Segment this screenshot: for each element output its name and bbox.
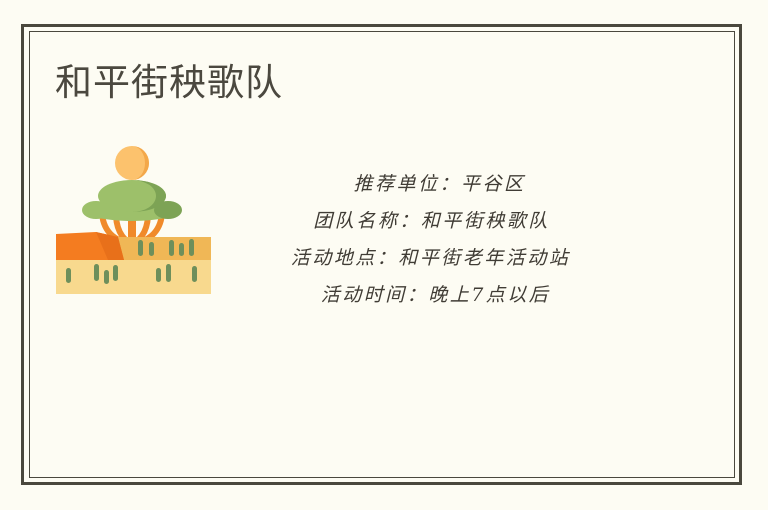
page-title: 和平街秧歌队 [55, 60, 283, 106]
info-block: 推荐单位：平谷区 团队名称：和平街秧歌队 活动地点：和平街老年活动站 活动时间：… [218, 166, 643, 314]
info-line-team-name: 团队名称：和平街秧歌队 [218, 203, 643, 240]
info-line-activity-place: 活动地点：和平街老年活动站 [218, 240, 643, 277]
info-line-recommend-unit: 推荐单位：平谷区 [218, 166, 643, 203]
tree-canopy [82, 180, 182, 221]
poster-card: 和平街秧歌队 [0, 0, 768, 510]
info-line-activity-time: 活动时间：晚上7点以后 [218, 277, 643, 314]
sun-icon [115, 146, 149, 180]
savanna-scene-illustration [56, 142, 211, 294]
